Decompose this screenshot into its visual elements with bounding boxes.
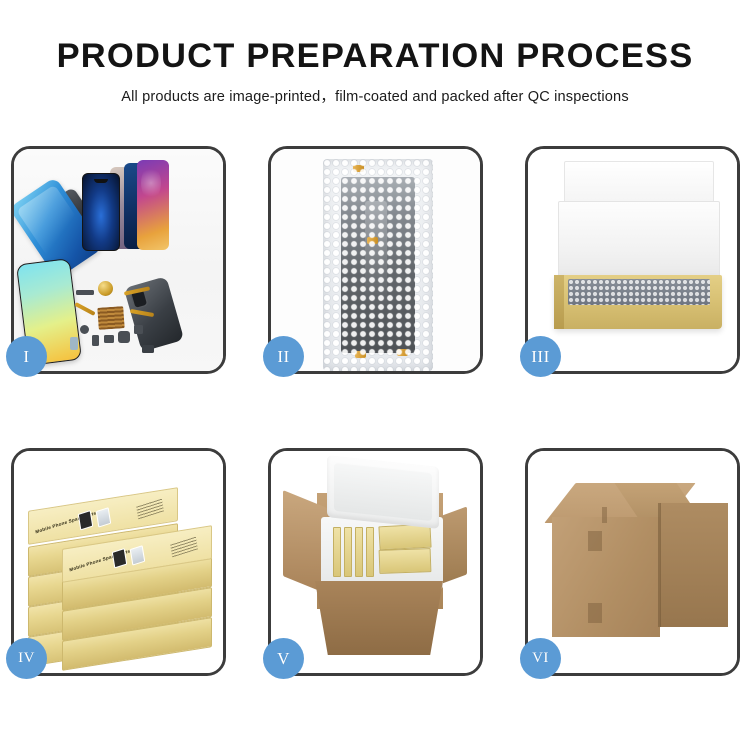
carton-edge-seam [658,503,661,627]
yellow-box-stack-top [378,524,431,551]
bubble-wrap-scene [271,149,480,371]
part-bracket [104,335,114,343]
process-panel-4: Mobile Phone Spare Parts Mobile Phone Sp… [11,448,226,676]
inner-box-scene [528,149,737,371]
part-connector [76,290,94,295]
box-art-screen-light-right [130,545,145,565]
box-spec-lines-right [170,536,198,558]
yellow-box-stack-bottom [379,548,432,574]
infographic-root: PRODUCT PREPARATION PROCESS All products… [0,0,750,750]
panel-2-image [271,149,480,371]
yellow-box-2 [344,527,352,577]
box-spec-lines-left [136,498,164,520]
chip-board [97,306,124,330]
tape-bottom-right [397,349,408,356]
flex-cable-1 [74,302,95,316]
process-panel-1: I [11,146,226,374]
step-badge-5: V [263,638,304,679]
carton-front-wall [315,581,443,655]
part-button [80,325,89,334]
box-art-screen-light-left [96,507,111,527]
step-badge-3: III [520,336,561,377]
process-panel-3: III [525,146,740,374]
step-badge-1: I [6,336,47,377]
foam-insert-box [321,517,443,589]
box-tray [554,275,722,329]
box-stack: Mobile Phone Spare Parts Mobile Phone Sp… [28,477,214,655]
process-panel-5: V [268,448,483,676]
yellow-box-3 [355,527,363,577]
box-art-screen-dark-right [112,548,127,568]
step-badge-2: II [263,336,304,377]
carton-front-face [552,517,660,637]
screen-protector [82,173,120,251]
step-badge-4: IV [6,638,47,679]
carton-right-face [660,503,728,627]
carton-tape-top [602,507,607,523]
tape-top [353,165,364,172]
panel-3-image [528,149,737,371]
part-camera [92,335,99,346]
part-module [118,331,130,343]
parts-scene [14,149,223,371]
sealed-carton-scene [528,451,737,673]
process-panel-2: II [268,146,483,374]
part-sim-tray [70,337,78,350]
stacked-boxes-scene: Mobile Phone Spare Parts Mobile Phone Sp… [14,451,223,673]
tape-middle [367,237,378,244]
carton-tape-upper [588,531,602,551]
carton-tape-lower [588,603,602,623]
panel-1-image [14,149,223,371]
bubble-wrap-bag [323,159,433,371]
step-badge-6: VI [520,638,561,679]
foam-carton-scene [271,451,480,673]
part-housing-clip [142,345,154,353]
phone-gradient [137,160,169,250]
foam-lid [327,455,439,529]
process-grid: I II [0,0,750,750]
bubble-wrapped-content [568,279,710,305]
box-art-screen-dark-left [78,510,93,530]
box-side-lip [554,275,564,329]
panel-6-image [528,451,737,673]
part-screw-plate [134,325,143,334]
speaker-component [98,281,113,296]
lcd-screen-inside [341,177,415,353]
panel-4-image: Mobile Phone Spare Parts Mobile Phone Sp… [14,451,223,673]
yellow-box-1 [333,527,341,577]
box-lid-front [558,201,720,277]
panel-5-image [271,451,480,673]
tape-bottom-left [355,351,366,358]
yellow-box-4 [366,527,374,577]
process-panel-6: VI [525,448,740,676]
